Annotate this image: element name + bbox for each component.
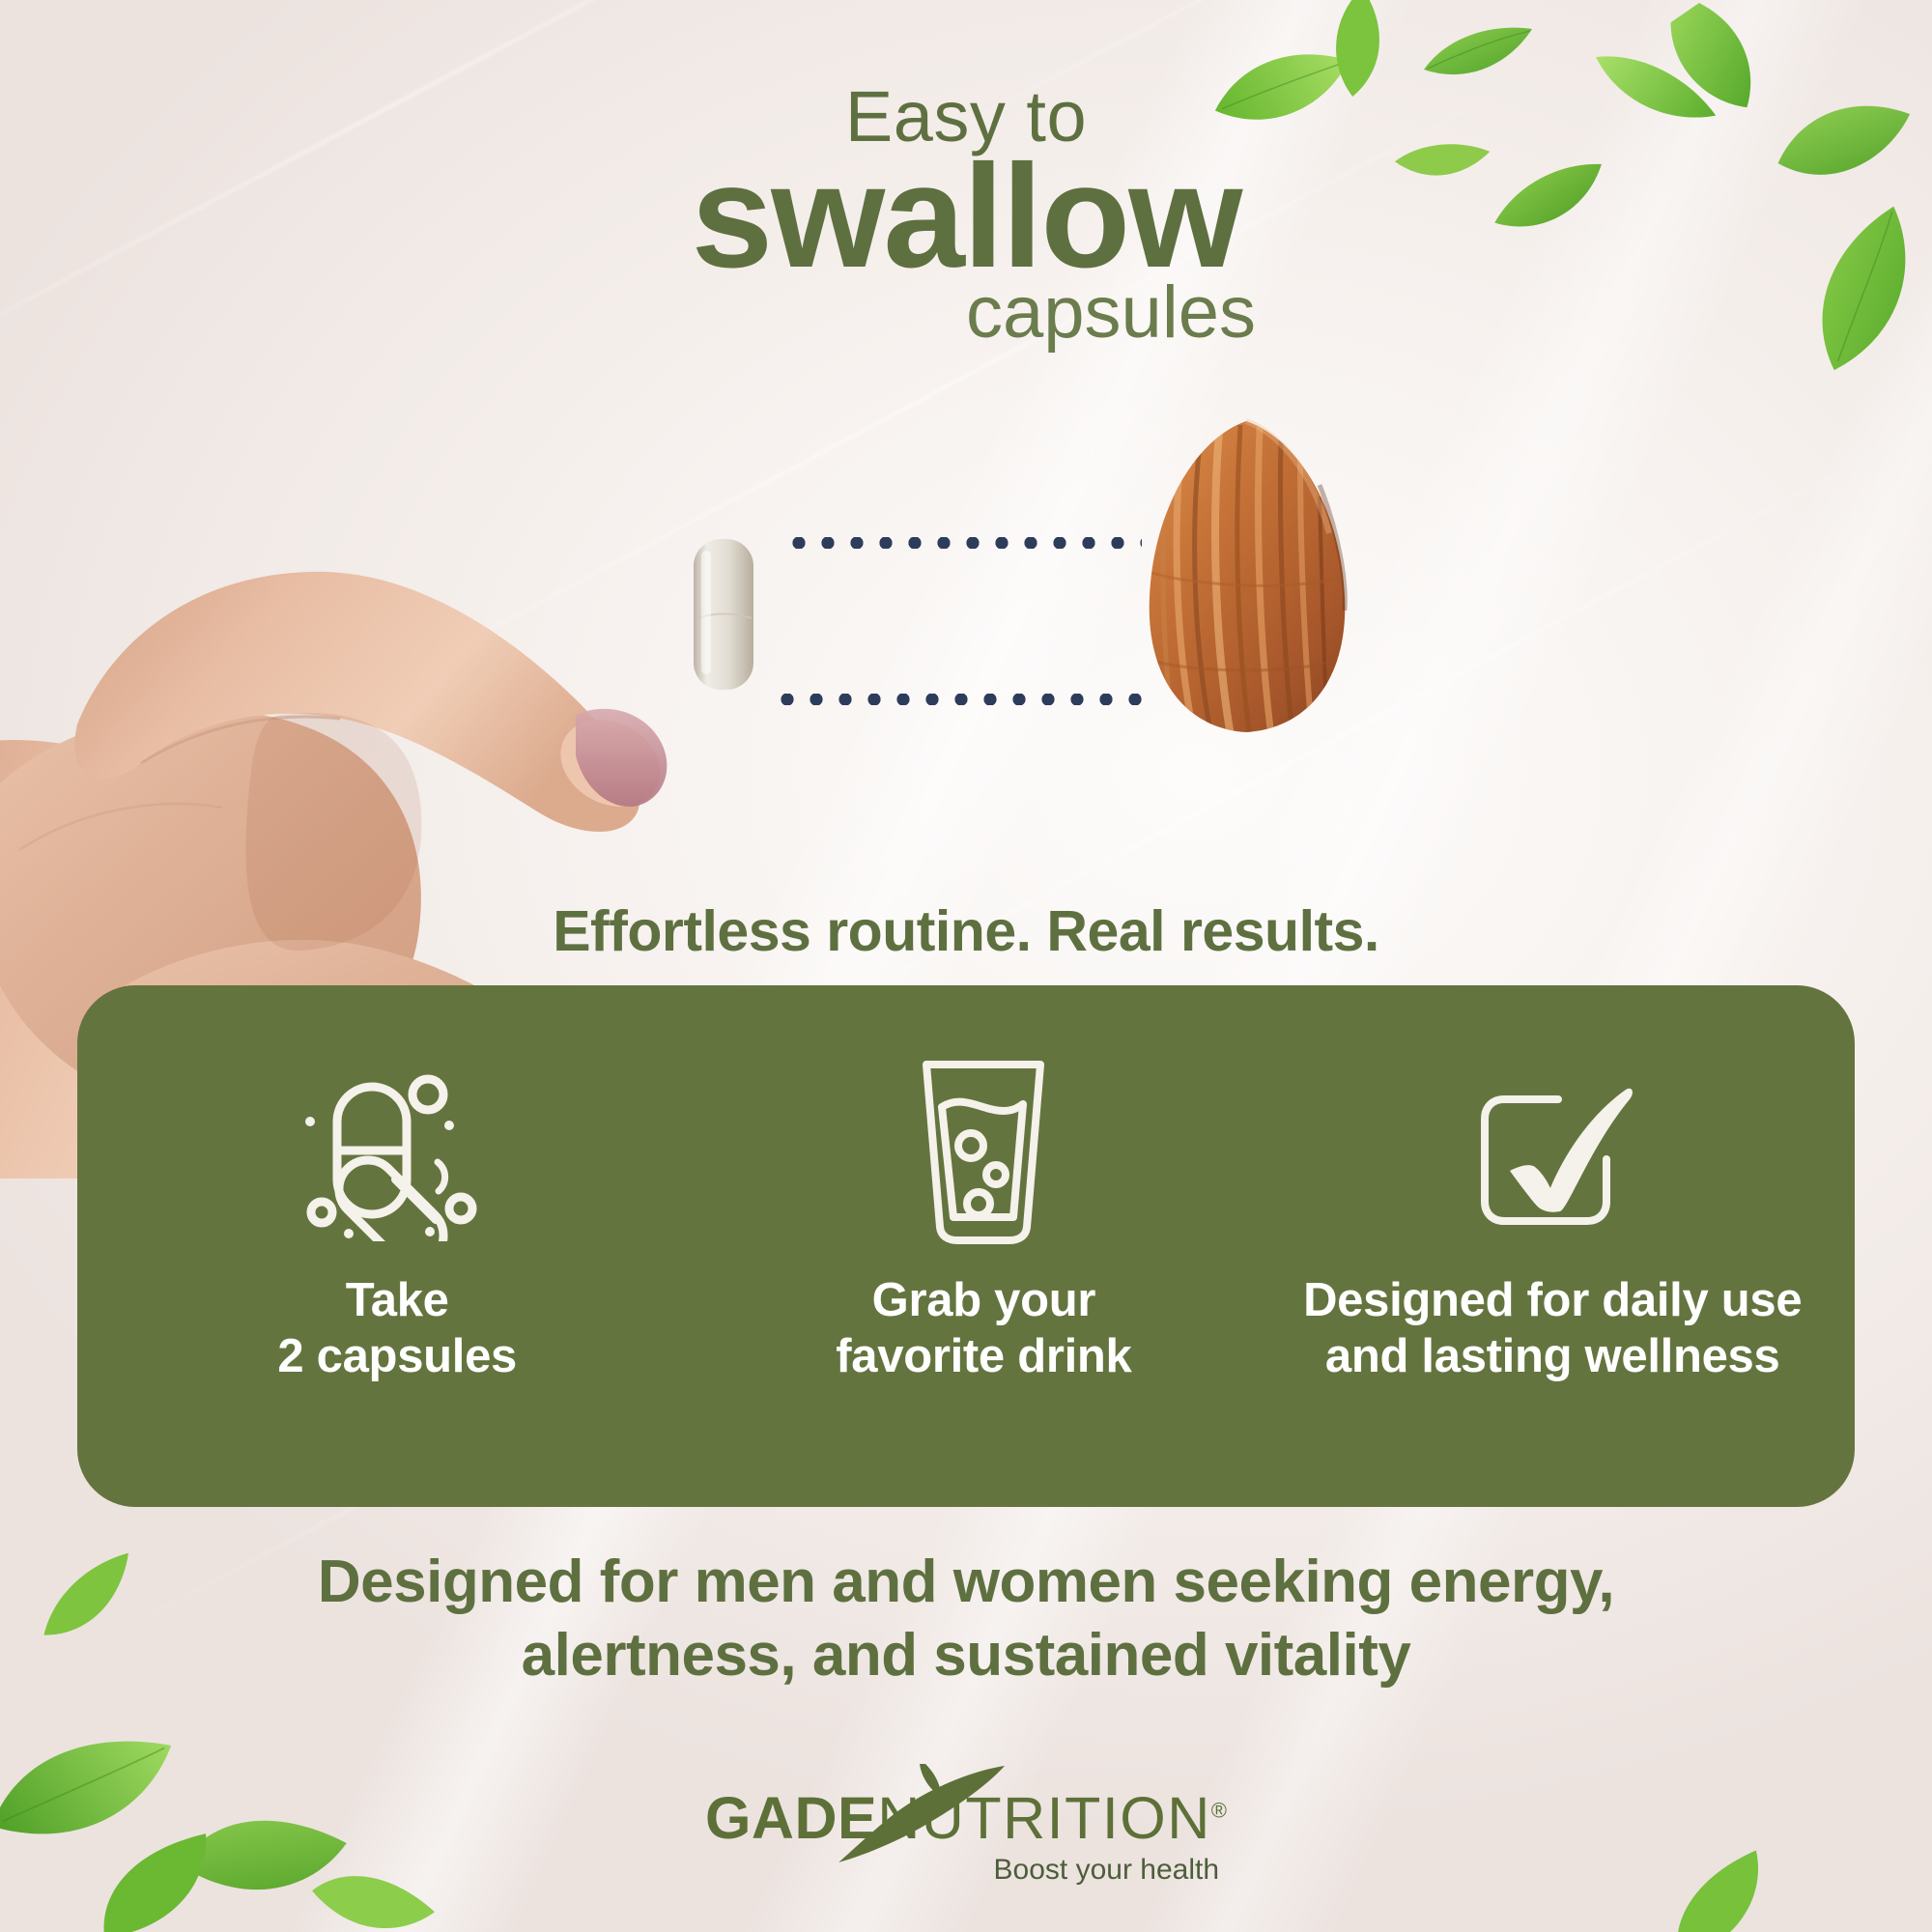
feature-label-line2: and lasting wellness <box>1325 1330 1780 1382</box>
feature-label: Designed for daily use and lasting welln… <box>1303 1273 1802 1385</box>
registered-trademark-icon: ® <box>1211 1799 1227 1823</box>
feature-item-favorite-drink: Grab your favorite drink <box>717 985 1250 1385</box>
feature-item-daily-use: Designed for daily use and lasting welln… <box>1250 985 1855 1385</box>
logo-name-gade: GADE <box>705 1785 877 1851</box>
capsule-graphic <box>688 537 759 692</box>
features-panel: Take 2 capsules <box>77 985 1855 1507</box>
almond-image <box>1140 417 1352 736</box>
dotted-connector-line <box>773 694 1142 705</box>
feature-label: Grab your favorite drink <box>836 1273 1131 1385</box>
logo-tagline: Boost your health <box>705 1854 1227 1887</box>
dotted-connector-line <box>784 537 1142 549</box>
feature-label-line2: 2 capsules <box>277 1330 517 1382</box>
bottom-headline-line1: Designed for men and women seeking energ… <box>318 1548 1614 1615</box>
feature-label-line1: Designed for daily use <box>1303 1274 1802 1326</box>
infographic-canvas: Easy to swallow capsules <box>0 0 1932 1932</box>
feature-label: Take 2 capsules <box>277 1273 517 1385</box>
feature-label-line1: Take <box>346 1274 449 1326</box>
water-glass-icon <box>911 1055 1056 1248</box>
feature-item-take-capsules: Take 2 capsules <box>77 985 717 1385</box>
bottom-headline-line2: alertness, and sustained vitality <box>522 1622 1411 1689</box>
tagline-text: Effortless routine. Real results. <box>0 898 1932 964</box>
two-capsules-icon <box>302 1055 492 1248</box>
brand-logo: GADENUTRITION® Boost your health <box>0 1789 1932 1887</box>
bottom-headline: Designed for men and women seeking energ… <box>0 1546 1932 1691</box>
title-line-swallow: swallow <box>0 143 1932 290</box>
feature-label-line2: favorite drink <box>836 1330 1131 1382</box>
feature-label-line1: Grab your <box>872 1274 1095 1326</box>
checkbox-check-icon <box>1465 1055 1639 1248</box>
logo-name-nutrition: NUTRITION <box>877 1785 1211 1851</box>
